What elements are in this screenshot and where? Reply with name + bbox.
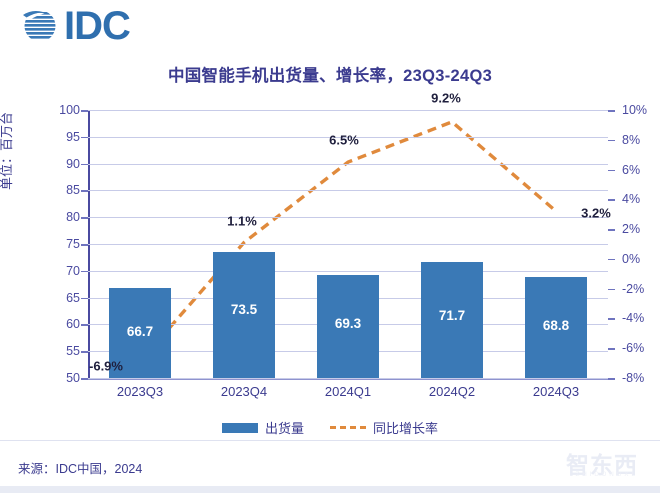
y-axis-tick [81, 217, 88, 219]
y-axis-tick-label: 70 [0, 264, 80, 278]
y-axis-tick [81, 110, 88, 112]
globe-icon [20, 6, 60, 46]
bar-value-label: 71.7 [421, 308, 483, 323]
y-axis-tick [81, 244, 88, 246]
y-axis-title: 单位：百万台 [0, 112, 15, 190]
legend-line-swatch-icon [330, 426, 366, 429]
gridline [88, 110, 608, 111]
y2-axis-tick [608, 199, 615, 201]
y-axis-tick-label: 85 [0, 183, 80, 197]
bar-value-label: 66.7 [109, 324, 171, 339]
y-axis-tick [81, 324, 88, 326]
bottom-accent-bar [0, 486, 660, 493]
y2-axis-tick [608, 110, 615, 112]
gridline [88, 378, 608, 379]
idc-logo-text: IDC [64, 6, 130, 46]
legend: 出货量 同比增长率 [0, 418, 660, 437]
y2-axis-tick [608, 229, 615, 231]
legend-bar-swatch-icon [222, 423, 258, 433]
y2-axis-tick-label: 10% [622, 103, 660, 117]
y2-axis-tick-label: 4% [622, 192, 660, 206]
gridline [88, 164, 608, 165]
growth-rate-label: 3.2% [581, 206, 611, 221]
y-axis-tick-label: 75 [0, 237, 80, 251]
gridline [88, 271, 608, 272]
y2-axis-tick-label: -8% [622, 371, 660, 385]
page-title: 中国智能手机出货量、增长率，23Q3-24Q3 [0, 62, 660, 86]
source-note: 来源：IDC中国，2024 [18, 458, 142, 477]
y-axis-tick [81, 137, 88, 139]
y2-axis-tick-label: 2% [622, 222, 660, 236]
y2-axis-tick-label: -2% [622, 282, 660, 296]
growth-rate-label: 1.1% [227, 213, 257, 228]
x-axis-label: 2023Q4 [192, 384, 296, 399]
y-axis-tick [81, 190, 88, 192]
y2-axis-tick-label: 8% [622, 133, 660, 147]
legend-label-shipments: 出货量 [265, 418, 304, 437]
bar-value-label: 73.5 [213, 302, 275, 317]
y-axis-tick [81, 351, 88, 353]
legend-label-growth-rate: 同比增长率 [373, 418, 438, 437]
y-axis-tick [81, 298, 88, 300]
y2-axis-tick-label: -6% [622, 341, 660, 355]
bar-value-label: 68.8 [525, 318, 587, 333]
y-axis-tick-label: 60 [0, 317, 80, 331]
legend-item-growth-rate[interactable]: 同比增长率 [330, 418, 438, 437]
y2-axis-tick [608, 378, 615, 380]
y-axis-tick [81, 164, 88, 166]
y2-axis-tick-label: 6% [622, 163, 660, 177]
y-axis-tick-label: 80 [0, 210, 80, 224]
x-axis-label: 2023Q3 [88, 384, 192, 399]
y2-axis-tick [608, 259, 615, 261]
chart-page: IDC 中国智能手机出货量、增长率，23Q3-24Q3 单位：百万台 10095… [0, 0, 660, 493]
y-axis-tick-label: 90 [0, 157, 80, 171]
gridline [88, 244, 608, 245]
y2-axis-tick [608, 348, 615, 350]
watermark-subtext: ZHIDONGXI [576, 472, 636, 478]
y2-axis-tick-label: 0% [622, 252, 660, 266]
growth-rate-label: 6.5% [329, 133, 359, 148]
x-axis-label: 2024Q3 [504, 384, 608, 399]
y-axis-tick-label: 55 [0, 344, 80, 358]
x-axis-label: 2024Q1 [296, 384, 400, 399]
y-axis-tick-label: 50 [0, 371, 80, 385]
x-axis-label: 2024Q2 [400, 384, 504, 399]
y-axis-tick-label: 95 [0, 130, 80, 144]
idc-logo: IDC [20, 6, 130, 46]
y2-axis-tick [608, 170, 615, 172]
y2-axis-tick-label: -4% [622, 311, 660, 325]
bar-value-label: 69.3 [317, 316, 379, 331]
footer-divider [0, 440, 660, 441]
growth-rate-label: 9.2% [431, 90, 461, 105]
y2-axis-tick [608, 318, 615, 320]
y2-axis-tick [608, 140, 615, 142]
y-axis-tick-label: 100 [0, 103, 80, 117]
y-axis-tick [81, 271, 88, 273]
legend-item-shipments[interactable]: 出货量 [222, 418, 304, 437]
y-axis-tick-label: 65 [0, 291, 80, 305]
gridline [88, 217, 608, 218]
gridline [88, 190, 608, 191]
growth-rate-label: -6.9% [89, 358, 123, 373]
y-axis-tick [81, 378, 88, 380]
y2-axis-tick [608, 289, 615, 291]
